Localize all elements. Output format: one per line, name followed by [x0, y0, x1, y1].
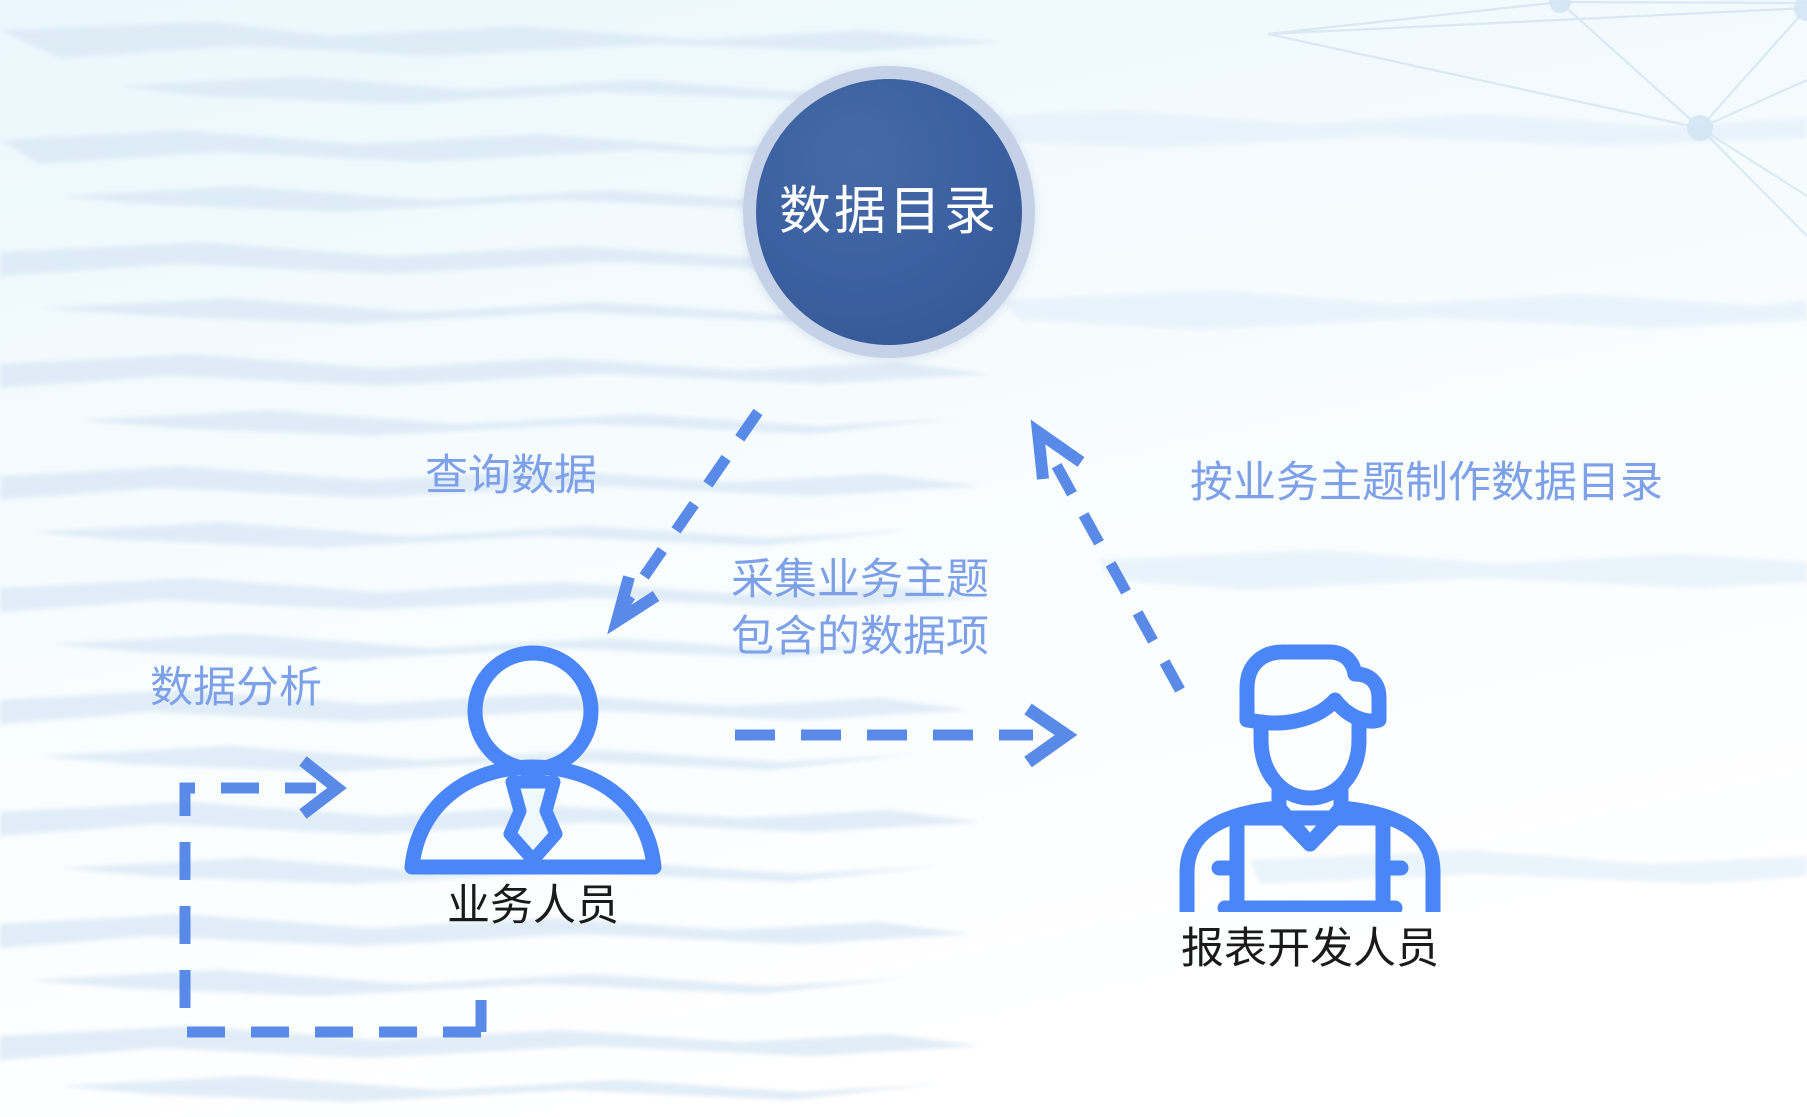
edge-label-collect-line2: 包含的数据项: [731, 609, 989, 666]
edge-label-data-analysis: 数据分析: [150, 660, 322, 717]
arrow-collect-topics: [735, 709, 1066, 762]
data-catalog-node[interactable]: 数据目录: [743, 66, 1035, 358]
diagram-canvas: 数据目录 查询数据 按业务主题制作数据目录 采集业务主题 包含的数据项 数据分析…: [0, 0, 1807, 1117]
actor-business-user-caption: 业务人员: [392, 883, 674, 930]
business-person-icon: [404, 645, 662, 875]
data-catalog-label: 数据目录: [779, 186, 999, 238]
developer-with-laptop-icon: [1169, 622, 1451, 912]
edge-label-collect-line1: 采集业务主题: [731, 552, 989, 609]
edge-label-build-catalog: 按业务主题制作数据目录: [1190, 455, 1663, 512]
edge-label-query-data: 查询数据: [425, 448, 597, 505]
actor-business-user[interactable]: 业务人员: [392, 645, 674, 930]
actor-report-developer[interactable]: 报表开发人员: [1155, 622, 1465, 973]
edge-label-collect-topics: 采集业务主题 包含的数据项: [731, 552, 989, 666]
actor-report-developer-caption: 报表开发人员: [1155, 926, 1465, 973]
